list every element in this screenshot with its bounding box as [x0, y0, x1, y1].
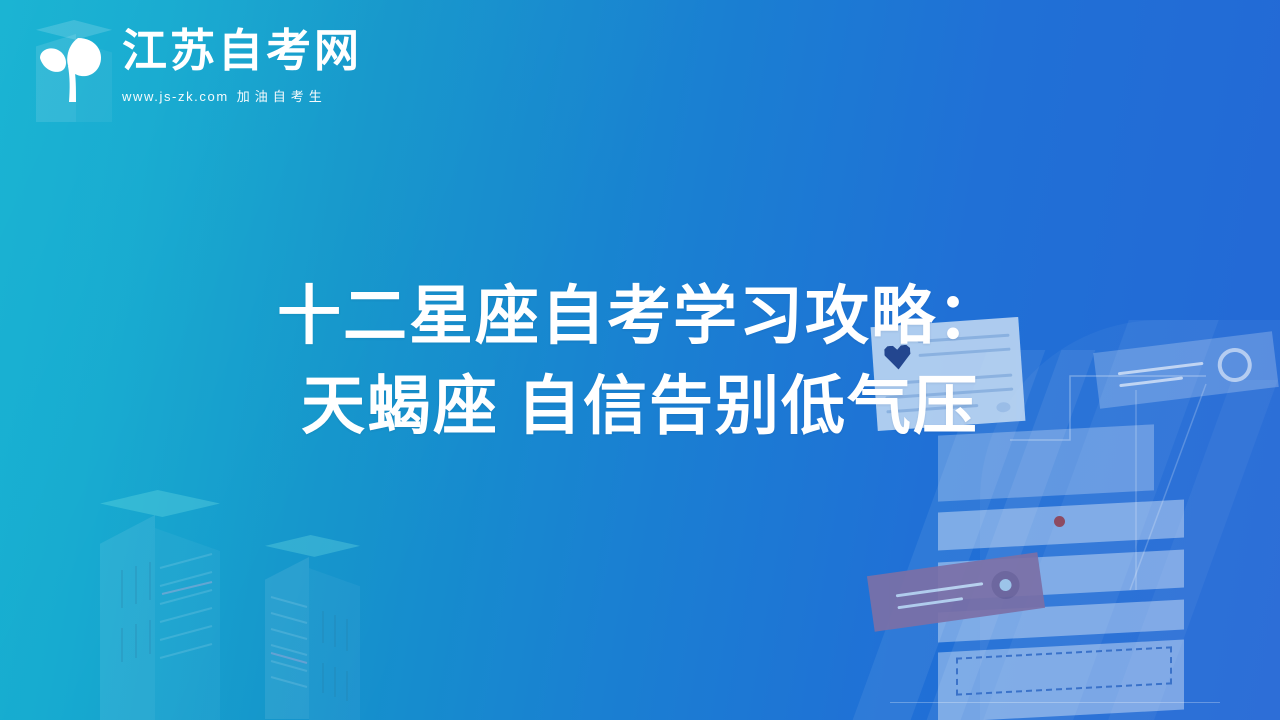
- sprout-leaf-icon: [28, 14, 116, 122]
- logo-subtitle: www.js-zk.com加油自考生: [122, 86, 362, 105]
- tower-detail-lines: [100, 490, 220, 720]
- logo-title: 江苏自考网: [122, 28, 362, 73]
- site-logo[interactable]: 江苏自考网 www.js-zk.com加油自考生: [28, 14, 362, 122]
- baseline-rule: [890, 702, 1220, 703]
- iso-tower-large: [100, 490, 220, 720]
- accent-dot: [1054, 516, 1065, 527]
- logo-website: www.js-zk.com: [122, 89, 229, 104]
- logo-slogan: 加油自考生: [237, 89, 327, 104]
- iso-tower-small: [265, 535, 360, 720]
- sprout-glyph: [38, 36, 110, 106]
- tower-detail-lines: [265, 535, 360, 720]
- headline-title: 十二星座自考学习攻略： 天蝎座 自信告别低气压: [0, 272, 1280, 452]
- banner-root: 江苏自考网 www.js-zk.com加油自考生 十二星座自考学习攻略： 天蝎座…: [0, 0, 1280, 720]
